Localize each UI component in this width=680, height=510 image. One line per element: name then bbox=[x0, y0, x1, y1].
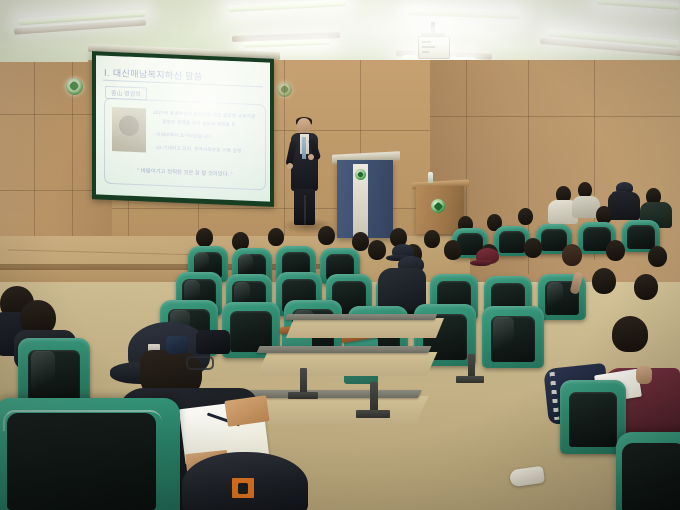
audience-head bbox=[518, 208, 533, 225]
aisle-tread-2 bbox=[257, 352, 438, 376]
cap-brim bbox=[470, 260, 491, 267]
seat-panel bbox=[622, 443, 680, 510]
presenter-legs bbox=[294, 189, 315, 225]
presenter-tie bbox=[302, 137, 306, 159]
projection-screen: Ⅰ. 대신매남복지하신 말씀 중山 명강의 202?년 공공부산의 우리나라 대… bbox=[92, 51, 274, 207]
audience-head bbox=[606, 240, 625, 261]
audience-head bbox=[648, 246, 667, 267]
audience-head bbox=[368, 240, 386, 260]
foreground-seat-right[interactable] bbox=[616, 432, 680, 510]
seat-chrome-trim bbox=[3, 410, 161, 431]
seat-gloss bbox=[31, 351, 55, 397]
audience-head bbox=[268, 228, 284, 246]
screen-glare bbox=[96, 55, 270, 201]
seat-panel bbox=[569, 392, 617, 447]
seat-gloss bbox=[493, 317, 514, 355]
aisle-tread-1 bbox=[286, 318, 444, 338]
bag-on-floor bbox=[166, 336, 188, 354]
audience-head bbox=[634, 274, 658, 300]
audience-head bbox=[424, 230, 440, 248]
water-bottle bbox=[428, 172, 433, 183]
eyeglasses-icon bbox=[186, 356, 214, 370]
presenter-right-hand bbox=[308, 154, 314, 160]
audience-head bbox=[196, 228, 213, 247]
seat[interactable] bbox=[482, 306, 544, 368]
orange-logo-mark bbox=[238, 483, 248, 494]
wall-emblem-right-icon bbox=[277, 82, 292, 97]
lecture-hall-photo: Ⅰ. 대신매남복지하신 말씀 중山 명강의 202?년 공공부산의 우리나라 대… bbox=[0, 0, 680, 510]
audience-head bbox=[318, 226, 335, 245]
note-taker-right-head bbox=[612, 316, 648, 352]
aisle-step-2 bbox=[256, 346, 431, 353]
audience-body bbox=[608, 192, 640, 220]
seat-gloss bbox=[547, 282, 563, 311]
podium-emblem-icon bbox=[355, 169, 366, 180]
blue-podium bbox=[337, 160, 393, 238]
wall-emblem-left-icon bbox=[66, 78, 83, 95]
audience-head bbox=[562, 244, 582, 266]
wooden-lectern bbox=[416, 186, 464, 234]
audience-head bbox=[524, 238, 542, 258]
seat-panel bbox=[499, 231, 525, 253]
ceiling-projector-icon bbox=[418, 36, 450, 59]
aisle-step-1 bbox=[285, 314, 437, 320]
audience-head bbox=[592, 268, 616, 294]
bag-on-floor bbox=[196, 330, 230, 354]
presenter-head bbox=[297, 118, 311, 134]
audience-head bbox=[444, 240, 462, 260]
seat-panel bbox=[627, 225, 654, 249]
presenter bbox=[289, 118, 321, 224]
foreground-seat-left[interactable] bbox=[0, 398, 180, 510]
presenter-left-hand bbox=[287, 163, 293, 169]
screen-surface: Ⅰ. 대신매남복지하신 말씀 중山 명강의 202?년 공공부산의 우리나라 대… bbox=[96, 55, 270, 201]
lectern-emblem-icon bbox=[431, 199, 445, 213]
note-taker-right-hand bbox=[636, 366, 652, 384]
cap-maroon-midrow bbox=[476, 248, 499, 264]
